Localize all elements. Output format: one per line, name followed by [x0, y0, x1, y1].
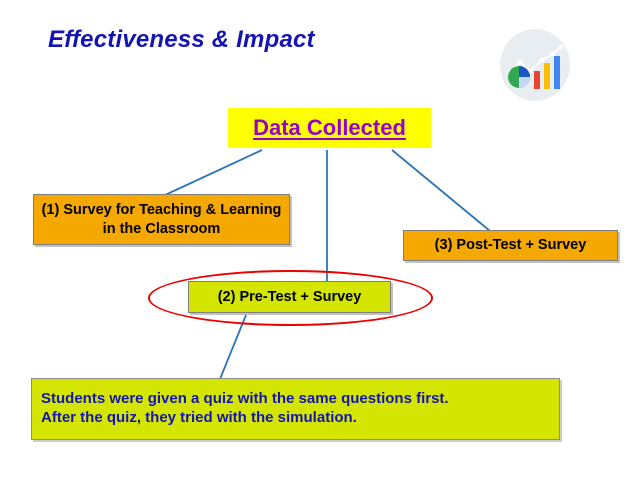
- node-post-test-survey: (3) Post-Test + Survey: [403, 230, 618, 261]
- slide-canvas: Effectiveness & Impact Da: [0, 0, 640, 480]
- node-survey-line-1: (1) Survey for Teaching &: [42, 202, 217, 218]
- node-data-collected: Data Collected: [228, 108, 431, 148]
- node-pre-test-survey: (2) Pre-Test + Survey: [188, 281, 391, 313]
- node-survey-teaching-learning: (1) Survey for Teaching & Learning in th…: [33, 194, 290, 245]
- connector-root-to-branch1: [163, 150, 262, 196]
- note-line-2: After the quiz, they tried with the simu…: [41, 409, 357, 428]
- analytics-chart-icon: [497, 27, 573, 103]
- note-box: Students were given a quiz with the same…: [31, 378, 560, 440]
- connector-branch2-to-note: [220, 315, 246, 379]
- note-line-1: Students were given a quiz with the same…: [41, 390, 449, 409]
- page-title: Effectiveness & Impact: [48, 26, 315, 54]
- connector-root-to-branch3: [392, 150, 490, 231]
